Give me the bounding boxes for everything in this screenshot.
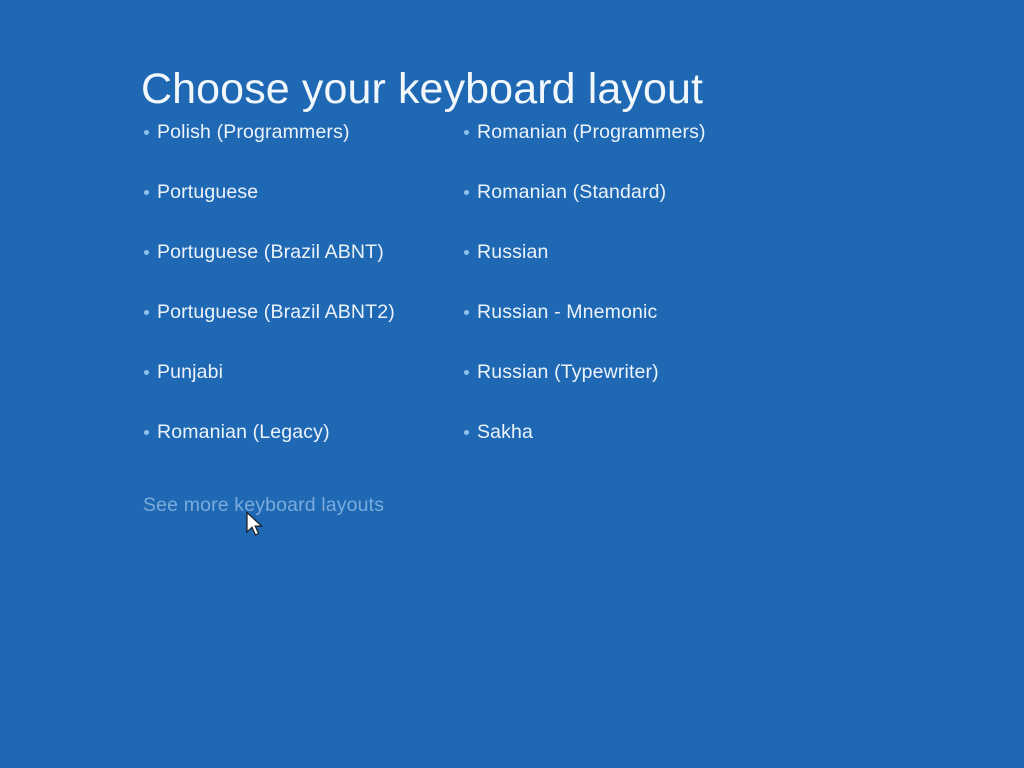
list-item-label: Romanian (Standard) bbox=[477, 181, 666, 203]
bullet-icon bbox=[144, 250, 149, 255]
list-item-label: Polish (Programmers) bbox=[157, 121, 350, 143]
list-item-label: Sakha bbox=[477, 421, 533, 443]
list-item[interactable]: Romanian (Programmers) bbox=[463, 121, 793, 181]
list-item[interactable]: Russian bbox=[463, 241, 793, 301]
list-item[interactable]: Portuguese (Brazil ABNT) bbox=[143, 241, 443, 301]
bullet-icon bbox=[464, 430, 469, 435]
list-item[interactable]: Polish (Programmers) bbox=[143, 121, 443, 181]
keyboard-layout-column-left: Polish (Programmers) Portuguese Portugue… bbox=[143, 121, 443, 481]
list-item-label: Portuguese (Brazil ABNT2) bbox=[157, 301, 395, 323]
list-item-label: Russian (Typewriter) bbox=[477, 361, 659, 383]
list-item-label: Punjabi bbox=[157, 361, 223, 383]
bullet-icon bbox=[464, 250, 469, 255]
list-item-label: Russian - Mnemonic bbox=[477, 301, 657, 323]
list-item[interactable]: Russian (Typewriter) bbox=[463, 361, 793, 421]
bullet-icon bbox=[144, 130, 149, 135]
oobe-keyboard-layout-screen: Choose your keyboard layout Polish (Prog… bbox=[0, 0, 1024, 768]
list-item-label: Russian bbox=[477, 241, 549, 263]
list-item-label: Portuguese bbox=[157, 181, 258, 203]
page-title: Choose your keyboard layout bbox=[141, 65, 703, 113]
bullet-icon bbox=[464, 130, 469, 135]
see-more-keyboard-layouts-link[interactable]: See more keyboard layouts bbox=[143, 494, 384, 516]
list-item[interactable]: Romanian (Legacy) bbox=[143, 421, 443, 481]
list-item-label: Portuguese (Brazil ABNT) bbox=[157, 241, 384, 263]
list-item[interactable]: Punjabi bbox=[143, 361, 443, 421]
bullet-icon bbox=[464, 190, 469, 195]
keyboard-layout-column-right: Romanian (Programmers) Romanian (Standar… bbox=[463, 121, 793, 481]
list-item[interactable]: Sakha bbox=[463, 421, 793, 481]
list-item[interactable]: Russian - Mnemonic bbox=[463, 301, 793, 361]
list-item[interactable]: Romanian (Standard) bbox=[463, 181, 793, 241]
bullet-icon bbox=[144, 310, 149, 315]
list-item-label: Romanian (Programmers) bbox=[477, 121, 706, 143]
bullet-icon bbox=[144, 430, 149, 435]
list-item[interactable]: Portuguese (Brazil ABNT2) bbox=[143, 301, 443, 361]
bullet-icon bbox=[464, 370, 469, 375]
bullet-icon bbox=[144, 370, 149, 375]
list-item-label: Romanian (Legacy) bbox=[157, 421, 330, 443]
bullet-icon bbox=[464, 310, 469, 315]
list-item[interactable]: Portuguese bbox=[143, 181, 443, 241]
bullet-icon bbox=[144, 190, 149, 195]
